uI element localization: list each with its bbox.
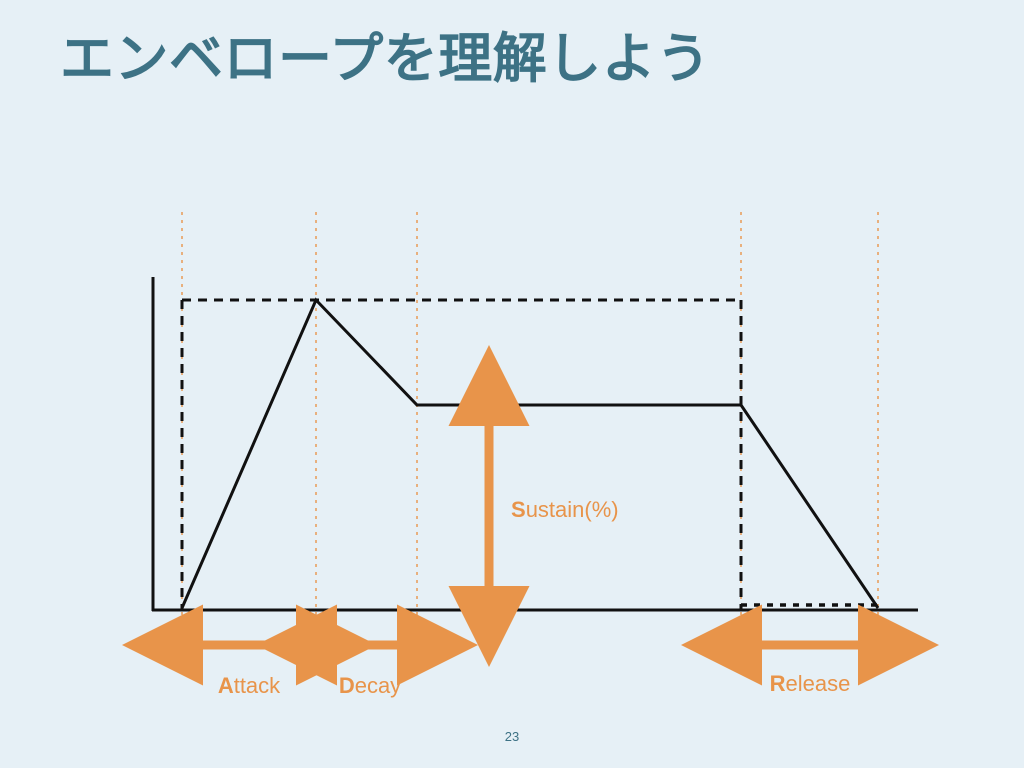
- attack-label: Attack: [218, 673, 281, 698]
- sustain-label-rest: ustain(%): [526, 497, 619, 522]
- decay-label: Decay: [339, 673, 401, 698]
- envelope-diagram: Sustain(%) Attack Decay Release: [0, 0, 1024, 768]
- envelope-chart-svg: Sustain(%) Attack Decay Release: [0, 0, 1024, 768]
- axes-group: [152, 277, 918, 611]
- sustain-label-lead: S: [511, 497, 526, 522]
- sustain-label: Sustain(%): [511, 497, 619, 522]
- page-number: 23: [0, 729, 1024, 744]
- decay-label-rest: ecay: [355, 673, 401, 698]
- release-label-rest: elease: [786, 671, 851, 696]
- attack-label-rest: ttack: [234, 673, 281, 698]
- release-label-lead: R: [770, 671, 786, 696]
- attack-label-lead: A: [218, 673, 234, 698]
- guide-lines-group: [182, 212, 878, 632]
- release-label: Release: [770, 671, 851, 696]
- decay-label-lead: D: [339, 673, 355, 698]
- envelope-curve: [182, 300, 878, 608]
- slide: エンベロープを理解しよう: [0, 0, 1024, 768]
